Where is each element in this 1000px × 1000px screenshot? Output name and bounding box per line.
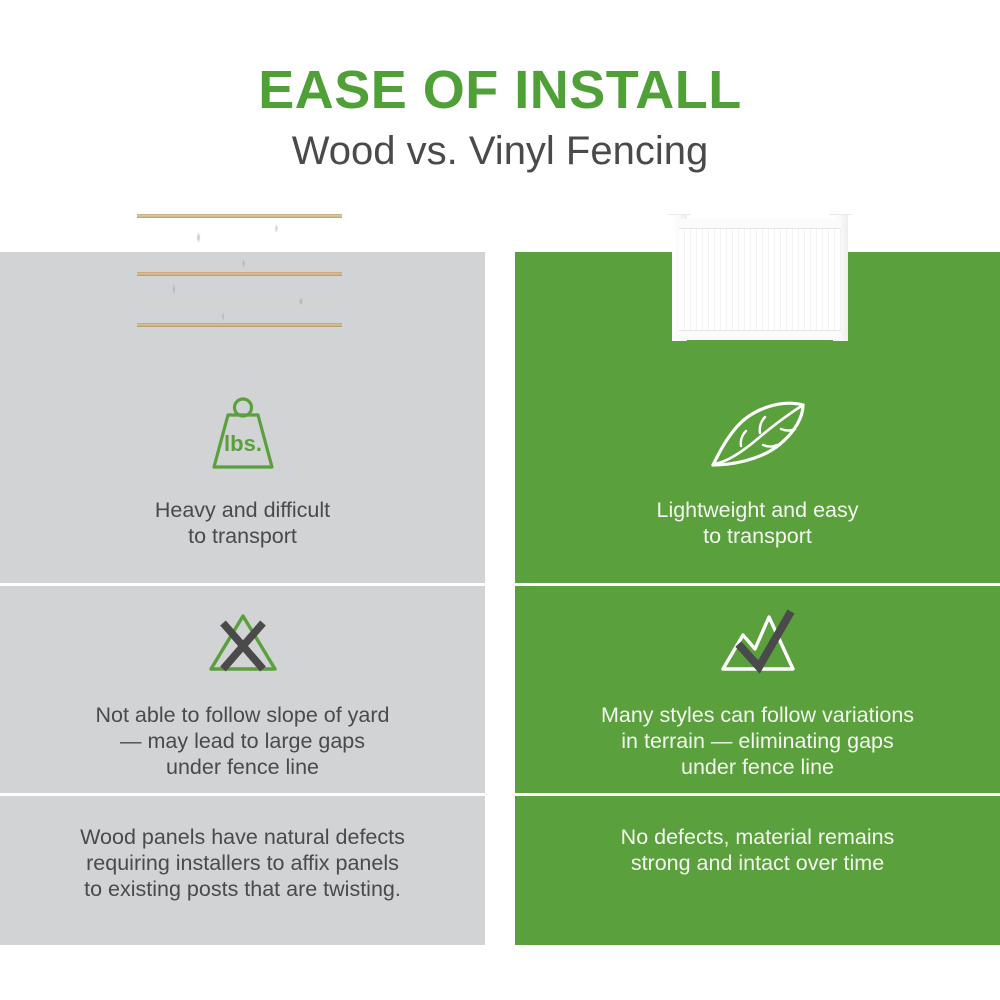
caption-line: to existing posts that are twisting. bbox=[84, 877, 401, 901]
wood-cell-defects: Wood panels have natural defects requiri… bbox=[0, 824, 485, 902]
vinyl-top-rail bbox=[679, 219, 841, 229]
caption-line: Lightweight and easy bbox=[656, 498, 858, 522]
page-subtitle: Wood vs. Vinyl Fencing bbox=[0, 119, 1000, 173]
caption-line: No defects, material remains bbox=[621, 825, 895, 849]
wood-cell-weight: lbs. Heavy and difficult to transport bbox=[0, 395, 485, 549]
infographic-header: EASE OF INSTALL Wood vs. Vinyl Fencing bbox=[0, 0, 1000, 190]
vinyl-panel-boards bbox=[679, 219, 841, 339]
wood-caption-slope: Not able to follow slope of yard — may l… bbox=[0, 702, 485, 780]
wood-picket-dogear-tops bbox=[137, 195, 342, 204]
wood-row-2: Not able to follow slope of yard — may l… bbox=[0, 586, 485, 793]
wood-rail-top bbox=[137, 214, 342, 218]
weight-lbs-icon: lbs. bbox=[206, 395, 280, 475]
mountain-checkmark-icon bbox=[711, 602, 805, 682]
caption-line: Heavy and difficult bbox=[155, 498, 330, 522]
page-title: EASE OF INSTALL bbox=[0, 0, 1000, 119]
caption-line: Many styles can follow variations bbox=[601, 703, 914, 727]
comparison-column-wood: lbs. Heavy and difficult to transport No… bbox=[0, 252, 485, 945]
wood-row-3: Wood panels have natural defects requiri… bbox=[0, 796, 485, 945]
wood-row-1: lbs. Heavy and difficult to transport bbox=[0, 252, 485, 583]
feather-icon bbox=[703, 395, 813, 475]
weight-icon-label: lbs. bbox=[224, 431, 262, 456]
comparison-column-vinyl: Lightweight and easy to transport Many s… bbox=[515, 252, 1000, 945]
caption-line: requiring installers to affix panels bbox=[86, 851, 399, 875]
vinyl-cell-defects: No defects, material remains strong and … bbox=[515, 824, 1000, 876]
vinyl-post-cap-left bbox=[668, 205, 691, 214]
vinyl-cell-weight: Lightweight and easy to transport bbox=[515, 395, 1000, 549]
wood-cell-slope: Not able to follow slope of yard — may l… bbox=[0, 602, 485, 780]
vinyl-bottom-rail bbox=[679, 330, 841, 340]
wood-caption-defects: Wood panels have natural defects requiri… bbox=[0, 824, 485, 902]
caption-line: under fence line bbox=[681, 755, 834, 779]
caption-line: to transport bbox=[703, 524, 812, 548]
triangle-x-slope-icon bbox=[201, 602, 285, 682]
caption-line: strong and intact over time bbox=[631, 851, 884, 875]
caption-line: to transport bbox=[188, 524, 297, 548]
vinyl-privacy-fence-panel-image bbox=[665, 197, 855, 347]
vinyl-caption-weight: Lightweight and easy to transport bbox=[515, 497, 1000, 549]
caption-line: in terrain — eliminating gaps bbox=[621, 729, 893, 753]
caption-line: Wood panels have natural defects bbox=[80, 825, 405, 849]
vinyl-cell-terrain: Many styles can follow variations in ter… bbox=[515, 602, 1000, 780]
caption-line: under fence line bbox=[166, 755, 319, 779]
vinyl-row-2: Many styles can follow variations in ter… bbox=[515, 586, 1000, 793]
caption-line: Not able to follow slope of yard bbox=[96, 703, 390, 727]
vinyl-caption-terrain: Many styles can follow variations in ter… bbox=[515, 702, 1000, 780]
wood-caption-weight: Heavy and difficult to transport bbox=[0, 497, 485, 549]
caption-line: — may lead to large gaps bbox=[120, 729, 365, 753]
vinyl-row-3: No defects, material remains strong and … bbox=[515, 796, 1000, 945]
vinyl-caption-defects: No defects, material remains strong and … bbox=[515, 824, 1000, 876]
vinyl-post-cap-right bbox=[829, 205, 852, 214]
